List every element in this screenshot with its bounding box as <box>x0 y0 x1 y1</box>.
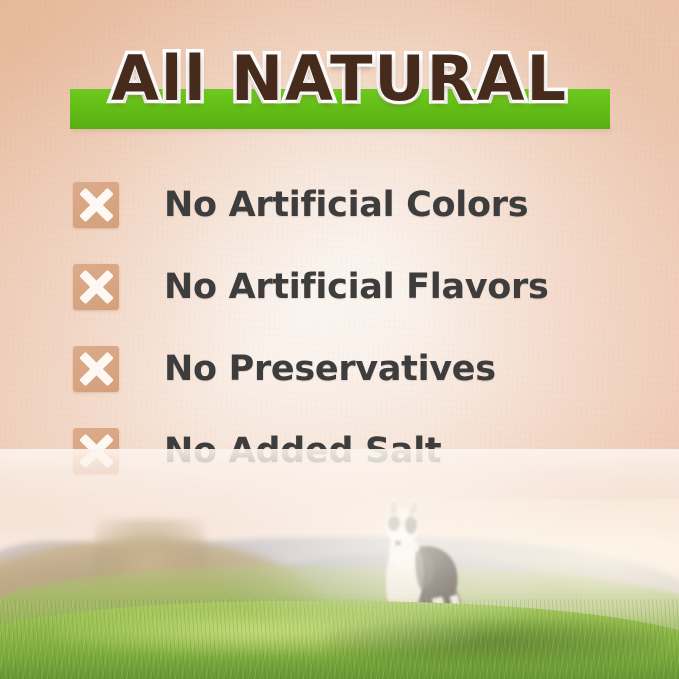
photo-grass-texture <box>0 599 679 679</box>
claim-label: No Artificial Colors <box>164 188 528 223</box>
x-mark-icon <box>73 264 119 310</box>
x-mark-icon <box>73 346 119 392</box>
x-mark-icon <box>73 182 119 228</box>
claim-label: No Artificial Flavors <box>164 270 549 305</box>
list-item: No Artificial Colors <box>73 176 633 234</box>
page-title: All NATURAL <box>0 48 679 110</box>
claim-label: No Preservatives <box>164 352 496 387</box>
list-item: No Artificial Flavors <box>73 258 633 316</box>
claims-list: No Artificial Colors No Artificial Flavo… <box>73 176 633 480</box>
landscape-photo <box>0 449 679 679</box>
list-item: No Preservatives <box>73 340 633 398</box>
all-natural-feature-graphic: All NATURAL No Artificial Colors No Arti… <box>0 0 679 679</box>
